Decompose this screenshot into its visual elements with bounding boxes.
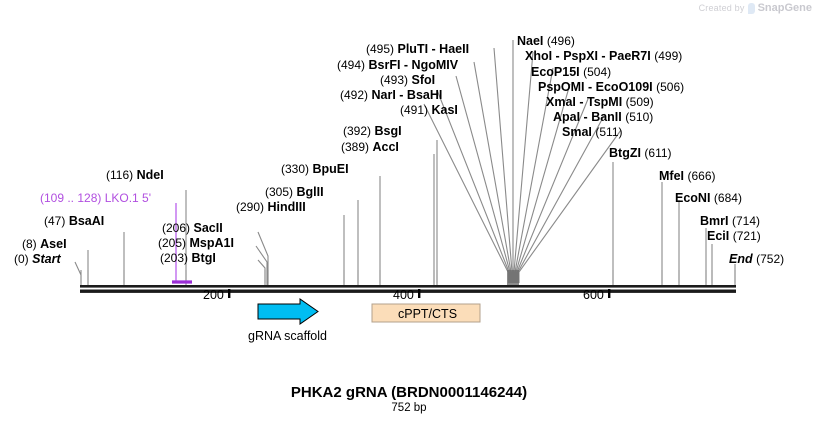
feature-label-lko1-5prime[interactable]: (109 .. 128) LKO.1 5' [40,192,151,204]
site-label-xmai-tspmi[interactable]: XmaI - TspMI (509) [546,96,654,109]
site-label-bglii[interactable]: (305) BglII [265,186,324,199]
feature-range-and-name: (109 .. 128) LKO.1 5' [40,191,151,205]
site-name: MspA1I [190,236,234,250]
site-label-sacii[interactable]: (206) SacII [162,222,223,235]
site-label-bmri[interactable]: BmrI (714) [700,215,760,228]
site-position: (611) [644,146,671,160]
feature-caption-cppt-cts: cPPT/CTS [398,307,457,321]
site-name: BglII [297,185,324,199]
site-name: HindIII [268,200,306,214]
site-name: PluTI - HaeII [398,42,470,56]
site-name: BpuEI [313,162,349,176]
site-name: BsgI [375,124,402,138]
site-name: BtgZI [609,146,641,160]
site-name: MfeI [659,169,684,183]
site-name: NarI - BsaHI [372,88,443,102]
site-position: (494) [337,58,365,72]
site-position: (0) [14,252,29,266]
site-label-start[interactable]: (0) Start [14,253,61,266]
site-label-acci[interactable]: (389) AccI [341,141,399,154]
site-label-bpuei[interactable]: (330) BpuEI [281,163,349,176]
site-position: (510) [625,110,653,124]
ruler-tick-400: 400 [393,288,414,302]
site-label-kasi[interactable]: (491) KasI [400,104,458,117]
site-label-econi[interactable]: EcoNI (684) [675,192,742,205]
site-name: BsrFI - NgoMIV [369,58,459,72]
site-name: ApaI - BanII [553,110,622,124]
site-label-ecop15i[interactable]: EcoP15I (504) [531,66,611,79]
site-name: XhoI - PspXI - PaeR7I [525,49,651,63]
site-position: (389) [341,140,369,154]
map-title: PHKA2 gRNA (BRDN0001146244) [0,384,818,401]
site-name: EcoNI [675,191,710,205]
site-position: (504) [583,65,611,79]
site-name: AseI [40,237,66,251]
site-label-end[interactable]: End (752) [729,253,784,266]
site-position: (684) [714,191,742,205]
site-name: BsaAI [69,214,104,228]
site-name: BmrI [700,214,728,228]
site-label-ecii[interactable]: EciI (721) [707,230,761,243]
site-position: (506) [656,80,684,94]
site-name: NaeI [517,34,543,48]
site-position: (205) [158,236,186,250]
site-name: KasI [432,103,458,117]
site-position: (116) [106,168,133,182]
site-label-btgi[interactable]: (203) BtgI [160,252,216,265]
site-position: (721) [733,229,761,243]
site-label-nari-bsahi[interactable]: (492) NarI - BsaHI [340,89,442,102]
map-subtitle: 752 bp [0,402,818,414]
site-name: SmaI [562,125,592,139]
site-position: (206) [162,221,190,235]
site-position: (511) [595,125,622,139]
site-position: (752) [756,252,784,266]
site-label-smai[interactable]: SmaI (511) [562,126,623,139]
site-position: (714) [732,214,760,228]
site-position: (47) [44,214,65,228]
site-label-hindiii[interactable]: (290) HindIII [236,201,306,214]
site-label-mfei[interactable]: MfeI (666) [659,170,716,183]
site-label-sfoi[interactable]: (493) SfoI [380,74,435,87]
site-label-naei[interactable]: NaeI (496) [517,35,575,48]
site-name: PspOMI - EcoO109I [538,80,653,94]
site-position: (392) [343,124,371,138]
site-name: EcoP15I [531,65,580,79]
site-label-bsrfi-ngomiv[interactable]: (494) BsrFI - NgoMIV [337,59,458,72]
feature-caption-grna-scaffold: gRNA scaffold [248,329,327,343]
site-position: (499) [654,49,682,63]
site-position: (666) [687,169,715,183]
site-label-asei[interactable]: (8) AseI [22,238,67,251]
site-name: EciI [707,229,729,243]
site-label-mspa1i[interactable]: (205) MspA1I [158,237,234,250]
site-name: NdeI [137,168,164,182]
feature-grna-scaffold[interactable] [258,299,318,324]
site-name: XmaI - TspMI [546,95,622,109]
site-name: SacII [194,221,223,235]
site-label-ndei[interactable]: (116) NdeI [106,169,164,182]
site-name: AccI [373,140,399,154]
site-position: (496) [547,34,575,48]
site-name: BtgI [192,251,216,265]
site-label-apai-banii[interactable]: ApaI - BanII (510) [553,111,653,124]
site-label-pspomi-ecoo109i[interactable]: PspOMI - EcoO109I (506) [538,81,684,94]
site-name: SfoI [412,73,436,87]
site-position: (8) [22,237,37,251]
site-position: (290) [236,200,264,214]
site-name: End [729,252,753,266]
site-position: (305) [265,185,293,199]
site-position: (491) [400,103,428,117]
ruler-tick-200: 200 [203,288,224,302]
site-position: (492) [340,88,368,102]
ruler-tick-600: 600 [583,288,604,302]
site-label-pluti-haeii[interactable]: (495) PluTI - HaeII [366,43,469,56]
site-position: (330) [281,162,309,176]
site-label-bsgi[interactable]: (392) BsgI [343,125,402,138]
site-label-btgzi[interactable]: BtgZI (611) [609,147,672,160]
site-label-bsaai[interactable]: (47) BsaAI [44,215,104,228]
site-position: (509) [626,95,654,109]
site-position: (493) [380,73,408,87]
site-position: (495) [366,42,394,56]
site-label-xhoi-pspxi-paer7i[interactable]: XhoI - PspXI - PaeR7I (499) [525,50,682,63]
site-name: Start [32,252,60,266]
site-position: (203) [160,251,188,265]
